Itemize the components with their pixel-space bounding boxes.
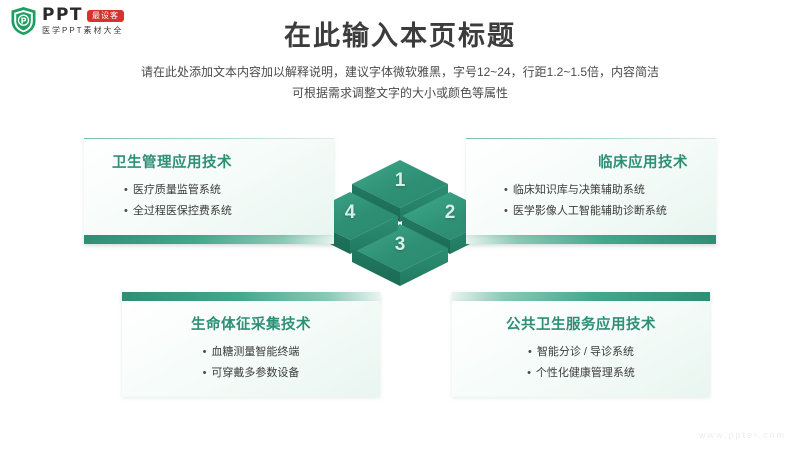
bullet-text: 医学影像人工智能辅助诊断系统 [513,201,667,222]
panel-top-left: 卫生管理应用技术 •医疗质量监管系统 •全过程医保控费系统 [84,138,334,244]
subtitle-line-1: 请在此处添加文本内容加以解释说明，建议字体微软雅黑，字号12~24，行距1.2~… [90,62,710,83]
panel-bottom-right-accent-bar [452,292,710,301]
list-item: •可穿戴多参数设备 [203,363,300,384]
panel-bottom-right: 公共卫生服务应用技术 •智能分诊 / 导诊系统 •个性化健康管理系统 [452,292,710,397]
panel-top-right-heading: 临床应用技术 [480,151,702,172]
bullet-text: 血糖测量智能终端 [211,342,299,363]
bullet-text: 临床知识库与决策辅助系统 [513,180,645,201]
panel-top-right-body: 临床应用技术 •临床知识库与决策辅助系统 •医学影像人工智能辅助诊断系统 [466,139,716,235]
bullet-text: 医疗质量监管系统 [133,180,221,201]
panel-top-left-accent-bar [84,235,334,244]
list-item: •个性化健康管理系统 [527,363,635,384]
bullet-dot-icon: • [504,206,508,217]
panel-bottom-left-body: 生命体征采集技术 •血糖测量智能终端 •可穿戴多参数设备 [122,301,380,397]
bullet-dot-icon: • [504,185,508,196]
list-item: •智能分诊 / 导诊系统 [528,342,634,363]
panel-bottom-left-accent-bar [122,292,380,301]
panel-bottom-right-bullets: •智能分诊 / 导诊系统 •个性化健康管理系统 [466,342,696,385]
watermark: www.ppter.com [699,430,786,440]
list-item: •医疗质量监管系统 [124,180,320,201]
bullet-text: 全过程医保控费系统 [133,201,232,222]
panel-top-right-accent-bar [466,235,716,244]
panel-top-right-bullets: •临床知识库与决策辅助系统 •医学影像人工智能辅助诊断系统 [480,180,702,223]
panel-bottom-left: 生命体征采集技术 •血糖测量智能终端 •可穿戴多参数设备 [122,292,380,397]
list-item: •临床知识库与决策辅助系统 [504,180,645,201]
panel-top-left-body: 卫生管理应用技术 •医疗质量监管系统 •全过程医保控费系统 [84,139,334,235]
panel-bottom-right-heading: 公共卫生服务应用技术 [466,313,696,334]
bullet-dot-icon: • [124,206,128,217]
page-subtitle: 请在此处添加文本内容加以解释说明，建议字体微软雅黑，字号12~24，行距1.2~… [90,62,710,104]
list-item: •全过程医保控费系统 [124,201,320,222]
subtitle-line-2: 可根据需求调整文字的大小或颜色等属性 [90,83,710,104]
bullet-text: 可穿戴多参数设备 [211,363,299,384]
panel-bottom-left-bullets: •血糖测量智能终端 •可穿戴多参数设备 [136,342,366,385]
bullet-text: 个性化健康管理系统 [536,363,635,384]
bullet-dot-icon: • [203,368,207,379]
list-item: •血糖测量智能终端 [203,342,300,363]
panel-bottom-right-body: 公共卫生服务应用技术 •智能分诊 / 导诊系统 •个性化健康管理系统 [452,301,710,397]
panel-top-left-heading: 卫生管理应用技术 [98,151,320,172]
list-item: •医学影像人工智能辅助诊断系统 [504,201,667,222]
bullet-dot-icon: • [528,347,532,358]
bullet-dot-icon: • [203,347,207,358]
bullet-dot-icon: • [527,368,531,379]
bullet-text: 智能分诊 / 导诊系统 [537,342,634,363]
page-title: 在此输入本页标题 [0,14,800,53]
panel-top-right: 临床应用技术 •临床知识库与决策辅助系统 •医学影像人工智能辅助诊断系统 [466,138,716,244]
panel-top-left-bullets: •医疗质量监管系统 •全过程医保控费系统 [98,180,320,223]
bullet-dot-icon: • [124,185,128,196]
panel-bottom-left-heading: 生命体征采集技术 [136,313,366,334]
